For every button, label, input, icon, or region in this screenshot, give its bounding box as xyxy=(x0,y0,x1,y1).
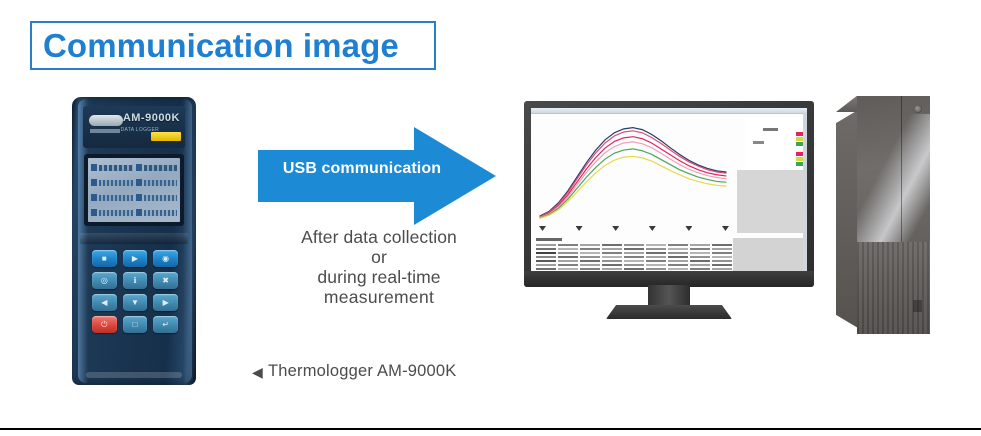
table-cell xyxy=(712,252,732,254)
table-cell xyxy=(580,252,600,254)
lcd-row xyxy=(91,206,177,219)
table-cell xyxy=(690,256,710,258)
table-column xyxy=(558,244,578,271)
arrow-right-icon: ▶ xyxy=(153,294,178,311)
table-column xyxy=(646,244,666,271)
lcd-row xyxy=(91,161,177,174)
table-cell xyxy=(668,248,688,250)
keypad-button-6[interactable]: ✖ xyxy=(153,272,178,289)
device-bottom-strip xyxy=(86,372,182,378)
table-cell xyxy=(536,264,556,266)
table-cell xyxy=(602,244,622,246)
pc-monitor xyxy=(524,101,814,319)
chart-series-ch4 xyxy=(540,142,726,218)
table-cell xyxy=(624,252,644,254)
table-cell xyxy=(602,268,622,270)
table-cell xyxy=(624,260,644,262)
table-cell xyxy=(558,248,578,250)
table-cell xyxy=(712,256,732,258)
table-cell xyxy=(580,264,600,266)
lcd-value-bar xyxy=(144,210,178,216)
arrow-shape xyxy=(258,127,496,225)
app-data-table[interactable] xyxy=(536,238,732,271)
lcd-marker xyxy=(136,179,142,186)
lcd-value-bar xyxy=(144,165,178,171)
app-scrollbar[interactable] xyxy=(803,113,807,271)
thermal-profile-chart xyxy=(535,115,731,227)
keypad-button-left[interactable]: ◀ xyxy=(92,294,117,311)
app-right-grey-panel xyxy=(737,170,807,233)
lcd-marker xyxy=(91,194,97,201)
arrow-down-icon: ▼ xyxy=(123,294,148,311)
left-triangle-icon: ◀ xyxy=(252,365,263,379)
keypad-power-button[interactable]: ⏻ xyxy=(92,316,117,333)
table-cell xyxy=(690,268,710,270)
table-column xyxy=(536,244,556,271)
device-yellow-badge xyxy=(151,132,181,141)
monitor-screen xyxy=(531,108,807,271)
table-cell xyxy=(558,252,578,254)
table-cell xyxy=(690,248,710,250)
table-cell xyxy=(536,248,556,250)
table-cell xyxy=(580,256,600,258)
axis-marker-icon xyxy=(612,226,619,231)
table-cell xyxy=(580,248,600,250)
table-cell xyxy=(602,248,622,250)
keypad-button-4[interactable]: ◎ xyxy=(92,272,117,289)
table-cell xyxy=(602,264,622,266)
keypad-button-1[interactable]: ■ xyxy=(92,250,117,267)
brand-logo-subtext xyxy=(90,129,120,133)
table-cell xyxy=(536,268,556,270)
info-icon: ℹ xyxy=(123,272,148,289)
table-cell xyxy=(558,268,578,270)
table-cell xyxy=(690,264,710,266)
table-cell xyxy=(668,260,688,262)
circle-icon: ◎ xyxy=(92,272,117,289)
table-cell xyxy=(602,252,622,254)
table-cell xyxy=(580,268,600,270)
table-cell xyxy=(624,264,644,266)
table-cell xyxy=(624,268,644,270)
center-caption: After data collection or during real-tim… xyxy=(248,228,510,307)
monitor-bezel xyxy=(524,101,814,287)
table-cell xyxy=(536,252,556,254)
page-title-box: Communication image xyxy=(30,21,436,70)
lcd-marker xyxy=(91,179,97,186)
table-grid xyxy=(536,244,732,271)
lcd-row xyxy=(91,176,177,189)
pc-badge-icon xyxy=(913,300,922,312)
table-cell xyxy=(668,264,688,266)
lcd-value-bar xyxy=(99,180,133,186)
table-cell xyxy=(712,268,732,270)
table-column xyxy=(668,244,688,271)
axis-marker-icon xyxy=(722,226,729,231)
table-cell xyxy=(690,260,710,262)
app-right-label-second xyxy=(753,141,764,144)
lcd-row xyxy=(91,191,177,204)
table-cell xyxy=(536,256,556,258)
table-title-bar xyxy=(536,238,562,241)
lcd-marker xyxy=(136,164,142,171)
device-lcd-screen xyxy=(88,158,180,222)
square-icon: □ xyxy=(123,316,148,333)
caption-line-3: during real-time xyxy=(248,268,510,288)
lcd-cell xyxy=(136,194,178,201)
table-cell xyxy=(646,248,666,250)
table-cell xyxy=(712,248,732,250)
device-top-panel: AM-9000K DATA LOGGER xyxy=(83,106,185,148)
device-caption-text: Thermologger AM-9000K xyxy=(268,362,457,381)
table-column xyxy=(580,244,600,271)
pc-lower-vent-panel xyxy=(857,242,930,334)
keypad-button-3[interactable]: ◉ xyxy=(153,250,178,267)
app-grey-panel-bottom xyxy=(733,238,807,271)
axis-marker-icon xyxy=(576,226,583,231)
app-titlebar xyxy=(531,108,807,114)
usb-communication-arrow: USB communication xyxy=(258,127,496,225)
table-cell xyxy=(668,252,688,254)
lcd-value-bar xyxy=(99,195,133,201)
table-cell xyxy=(690,252,710,254)
device-model-label: AM-9000K xyxy=(123,112,180,124)
keypad-button-2[interactable]: ▶ xyxy=(123,250,148,267)
enter-icon: ↵ xyxy=(153,316,178,333)
lcd-cell xyxy=(136,209,178,216)
table-cell xyxy=(580,244,600,246)
table-cell xyxy=(668,244,688,246)
device-divider xyxy=(80,233,188,244)
table-cell xyxy=(668,256,688,258)
keypad-button-5[interactable]: ℹ xyxy=(123,272,148,289)
thermologger-device: AM-9000K DATA LOGGER xyxy=(72,97,196,385)
pc-left-side-panel xyxy=(836,110,858,328)
footer-divider xyxy=(0,428,981,430)
brand-logo xyxy=(89,115,123,126)
table-column xyxy=(624,244,644,271)
axis-marker-icon xyxy=(649,226,656,231)
keypad-button-11[interactable]: □ xyxy=(123,316,148,333)
caption-line-2: or xyxy=(248,248,510,268)
lcd-cell xyxy=(91,209,133,216)
table-cell xyxy=(646,244,666,246)
play-icon: ▶ xyxy=(123,250,148,267)
table-cell xyxy=(646,268,666,270)
table-cell xyxy=(712,244,732,246)
pc-panel-seam xyxy=(901,96,902,242)
table-cell xyxy=(668,268,688,270)
lcd-cell xyxy=(91,164,133,171)
table-cell xyxy=(602,260,622,262)
keypad-enter-button[interactable]: ↵ xyxy=(153,316,178,333)
lcd-marker xyxy=(136,194,142,201)
lcd-cell xyxy=(136,179,178,186)
table-cell xyxy=(646,264,666,266)
lcd-marker xyxy=(136,209,142,216)
table-cell xyxy=(558,256,578,258)
device-lcd-frame xyxy=(84,154,184,226)
power-button-icon[interactable] xyxy=(914,105,922,113)
lcd-cell xyxy=(136,164,178,171)
chart-series-ch5 xyxy=(540,149,726,218)
chart-axis-markers xyxy=(539,226,729,231)
axis-marker-icon xyxy=(685,226,692,231)
table-cell xyxy=(646,252,666,254)
lcd-cell xyxy=(91,179,133,186)
table-column xyxy=(712,244,732,271)
table-cell xyxy=(558,244,578,246)
record-icon: ◉ xyxy=(153,250,178,267)
lcd-cell xyxy=(91,194,133,201)
table-cell xyxy=(536,260,556,262)
caption-line-4: measurement xyxy=(248,288,510,308)
arrow-left-icon: ◀ xyxy=(92,294,117,311)
monitor-stand-base xyxy=(606,305,732,319)
chart-series-ch2 xyxy=(540,131,726,217)
table-cell xyxy=(602,256,622,258)
keypad-button-down[interactable]: ▼ xyxy=(123,294,148,311)
pc-front-panel xyxy=(857,96,930,334)
table-cell xyxy=(624,256,644,258)
table-cell xyxy=(624,244,644,246)
lcd-value-bar xyxy=(144,195,178,201)
table-cell xyxy=(624,248,644,250)
table-cell xyxy=(712,260,732,262)
power-icon: ⏻ xyxy=(92,316,117,333)
app-right-label-top xyxy=(763,128,778,131)
device-keypad: ■ ▶ ◉ ◎ ℹ ✖ ◀ ▼ ▶ ⏻ □ ↵ xyxy=(92,250,178,333)
table-cell xyxy=(536,244,556,246)
keypad-button-right[interactable]: ▶ xyxy=(153,294,178,311)
page-title: Communication image xyxy=(43,29,399,62)
caption-line-1: After data collection xyxy=(248,228,510,248)
table-cell xyxy=(646,260,666,262)
table-cell xyxy=(646,256,666,258)
lcd-value-bar xyxy=(99,165,133,171)
table-cell xyxy=(558,260,578,262)
device-caption: ◀ Thermologger AM-9000K xyxy=(252,362,457,381)
chart-series-ch1 xyxy=(540,128,726,216)
lcd-value-bar xyxy=(144,180,178,186)
desktop-pc-tower xyxy=(836,96,930,334)
table-cell xyxy=(690,244,710,246)
communication-image-figure: Communication image AM-9000K DATA LOGGER xyxy=(0,0,981,436)
axis-marker-icon xyxy=(539,226,546,231)
lcd-value-bar xyxy=(99,210,133,216)
stop-icon: ■ xyxy=(92,250,117,267)
lcd-marker xyxy=(91,164,97,171)
table-cell xyxy=(558,264,578,266)
lcd-marker xyxy=(91,209,97,216)
table-column xyxy=(602,244,622,271)
table-cell xyxy=(712,264,732,266)
table-column xyxy=(690,244,710,271)
cancel-icon: ✖ xyxy=(153,272,178,289)
table-cell xyxy=(580,260,600,262)
